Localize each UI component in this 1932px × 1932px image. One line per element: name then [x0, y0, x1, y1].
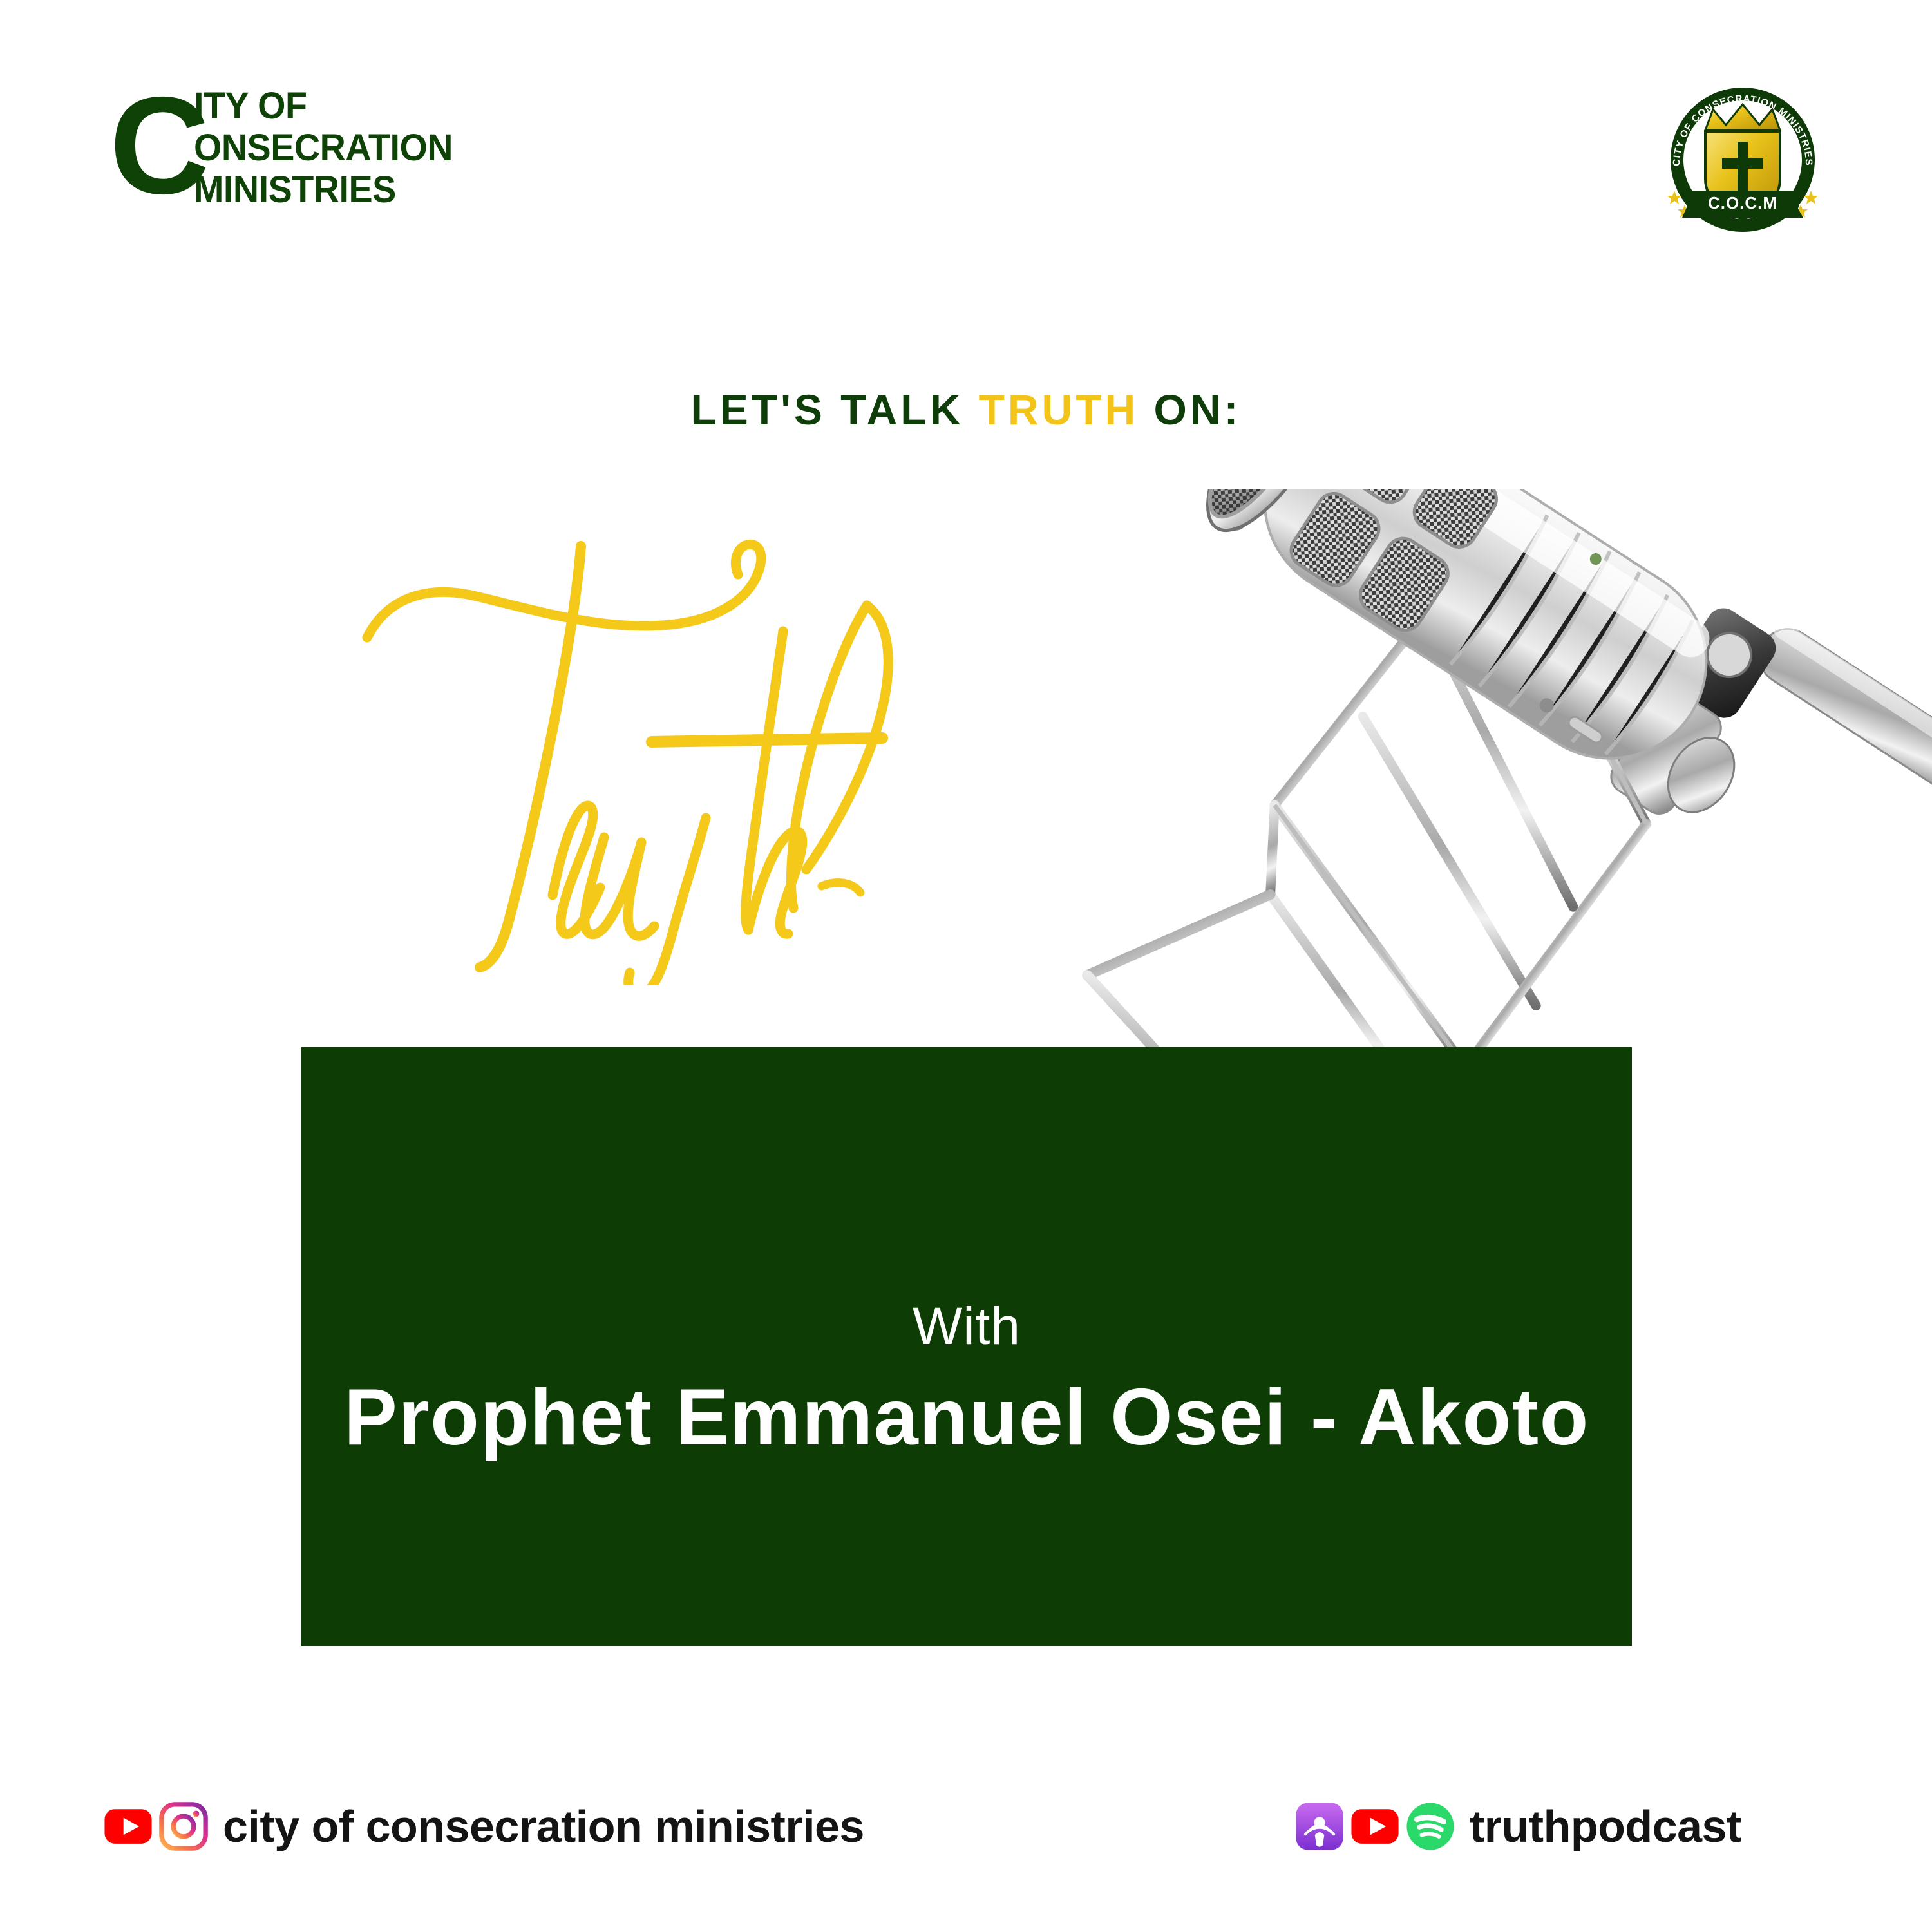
logo-monogram-c: C [109, 81, 205, 210]
youtube-icon[interactable] [1350, 1801, 1400, 1851]
tagline: LET'S TALK TRUTH ON: [0, 385, 1932, 434]
social-handle-right[interactable]: truthpodcast [1470, 1801, 1741, 1851]
logo-text-stack: ITY OF ONSECRATION MINISTRIES [194, 85, 516, 211]
with-label: With [301, 1298, 1632, 1355]
instagram-icon[interactable] [158, 1801, 209, 1851]
logo-line-1: ITY OF [194, 85, 503, 127]
social-handle-left[interactable]: city of consecration ministries [223, 1801, 864, 1851]
church-logo: C ITY OF ONSECRATION MINISTRIES [109, 77, 509, 213]
youtube-icon[interactable] [103, 1801, 153, 1851]
spotify-icon[interactable] [1405, 1801, 1455, 1851]
mic-boom-arm [1750, 619, 1932, 820]
social-row-left: city of consecration ministries [103, 1795, 864, 1857]
apple-podcasts-icon[interactable] [1294, 1801, 1345, 1851]
cocm-crest-badge: CITY OF CONSECRATION MINISTRIES C.O.C.M [1665, 82, 1820, 237]
tagline-highlight: TRUTH [979, 386, 1139, 433]
logo-line-3: MINISTRIES [194, 169, 503, 211]
podcast-promo-poster: C ITY OF ONSECRATION MINISTRIES CITY OF … [0, 0, 1932, 1932]
host-panel: With Prophet Emmanuel Osei - Akoto [301, 1047, 1632, 1646]
social-row-right: truthpodcast [1294, 1795, 1741, 1857]
tagline-after: ON: [1139, 386, 1241, 433]
logo-line-2: ONSECRATION [194, 127, 503, 169]
tagline-before: LET'S TALK [690, 386, 978, 433]
host-name: Prophet Emmanuel Osei - Akoto [301, 1369, 1632, 1466]
crest-banner-text: C.O.C.M [1708, 193, 1777, 213]
show-wordmark: THE PODCAST [0, 541, 1288, 1030]
